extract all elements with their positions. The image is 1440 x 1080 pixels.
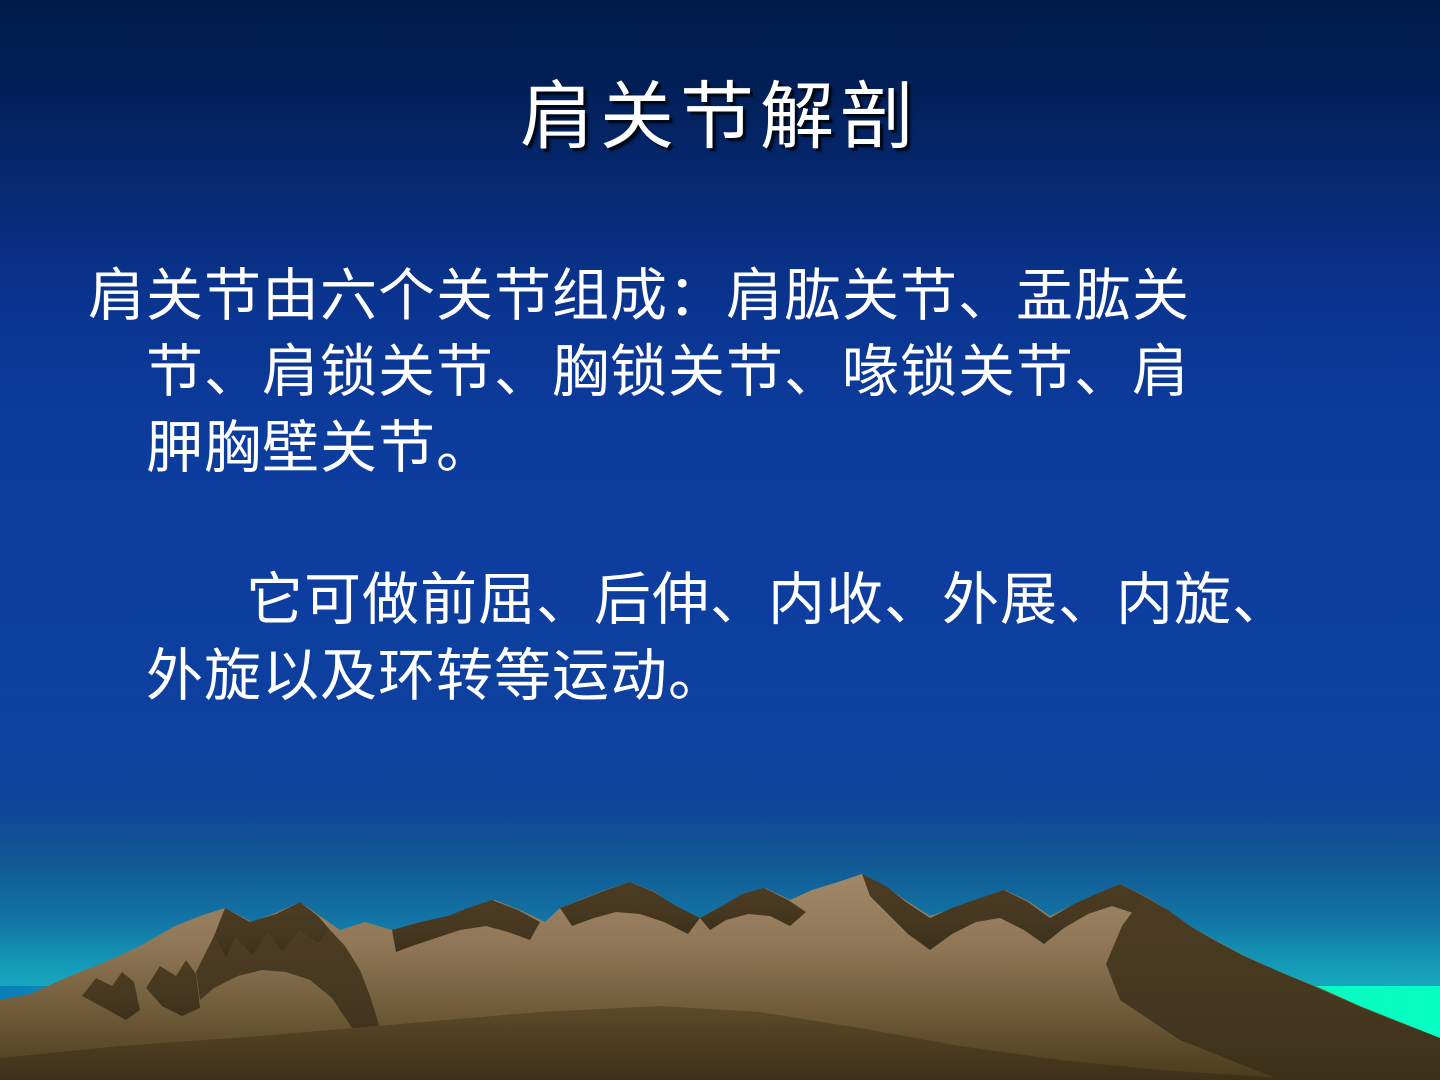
mountain-range-graphic [0, 860, 1440, 1080]
paragraph-2-line-1: 它可做前屈、后伸、内收、外展、内旋、 [146, 562, 1358, 638]
presentation-slide: 肩关节解剖 肩关节由六个关节组成：肩肱关节、盂肱关 节、肩锁关节、胸锁关节、喙锁… [0, 0, 1440, 1080]
paragraph-1-line-1: 肩关节由六个关节组成：肩肱关节、盂肱关 [88, 258, 1358, 334]
paragraph-1-line-2: 节、肩锁关节、胸锁关节、喙锁关节、肩 [146, 334, 1358, 410]
paragraph-2-line-1-text: 它可做前屈、后伸、内收、外展、内旋、 [246, 567, 1290, 633]
paragraph-2-line-2: 外旋以及环转等运动。 [146, 638, 1358, 714]
paragraph-1: 肩关节由六个关节组成：肩肱关节、盂肱关 节、肩锁关节、胸锁关节、喙锁关节、肩 胛… [88, 258, 1358, 486]
paragraph-1-line-3: 胛胸壁关节。 [146, 410, 1358, 486]
slide-body-text: 肩关节由六个关节组成：肩肱关节、盂肱关 节、肩锁关节、胸锁关节、喙锁关节、肩 胛… [88, 258, 1358, 714]
page-title: 肩关节解剖 [0, 80, 1440, 154]
paragraph-2: 它可做前屈、后伸、内收、外展、内旋、 外旋以及环转等运动。 [88, 562, 1358, 714]
